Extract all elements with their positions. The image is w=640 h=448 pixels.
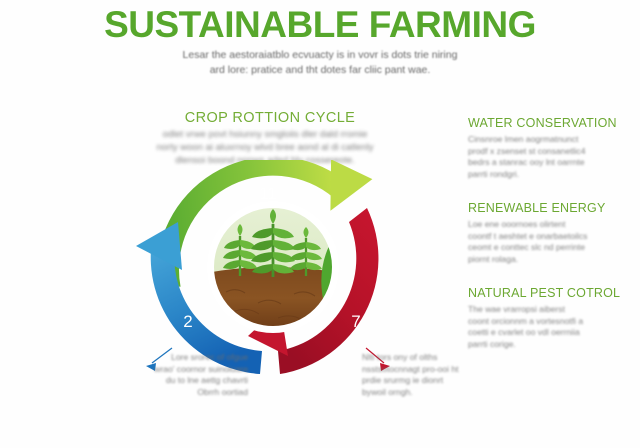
- infographic-poster: SUSTAINABLE FARMING Lesar the aestoraiat…: [0, 0, 640, 448]
- section-renewable-energy: RENEWABLE ENERGY Loe ene ooornoes olirte…: [468, 201, 628, 265]
- section-heading-renewable-energy: RENEWABLE ENERGY: [468, 201, 628, 215]
- section-heading-water-conservation: WATER CONSERVATION: [468, 116, 628, 130]
- blue-arrow-label: 2: [183, 312, 192, 331]
- section-body-renewable-energy: Loe ene ooornoes olirtentcoontf t aeshte…: [468, 219, 628, 265]
- page-subtitle: Lesar the aestoraiatblo ecvuacty is in v…: [130, 48, 510, 78]
- crop-rotation-cycle-heading: CROP ROTTION CYCLE: [140, 110, 400, 126]
- crop-rotation-diagram: 11 2 7: [128, 160, 418, 375]
- center-farm-illustration: [207, 201, 351, 333]
- section-heading-natural-pest-control: NATURAL PEST COTROL: [468, 286, 628, 300]
- red-arrow-caption: Nlti tors ony of olthsnsstsotocnnagt pro…: [362, 352, 512, 398]
- page-title: SUSTAINABLE FARMING: [0, 4, 640, 46]
- section-natural-pest-control: NATURAL PEST COTROL The wae vrarropsi ai…: [468, 286, 628, 350]
- red-arrow-label: 7: [351, 312, 360, 331]
- section-body-natural-pest-control: The wae vrarropsi aiberstcoont orcionnm …: [468, 304, 628, 350]
- green-arrow-label: 11: [259, 184, 277, 203]
- blue-arrow-caption: Lore srorec of ofguewrao' coornor suinoi…: [98, 352, 248, 398]
- section-body-water-conservation: Cinsnroe lmen aogrmatnunctprodf x zsense…: [468, 134, 628, 180]
- section-water-conservation: WATER CONSERVATION Cinsnroe lmen aogrmat…: [468, 116, 628, 180]
